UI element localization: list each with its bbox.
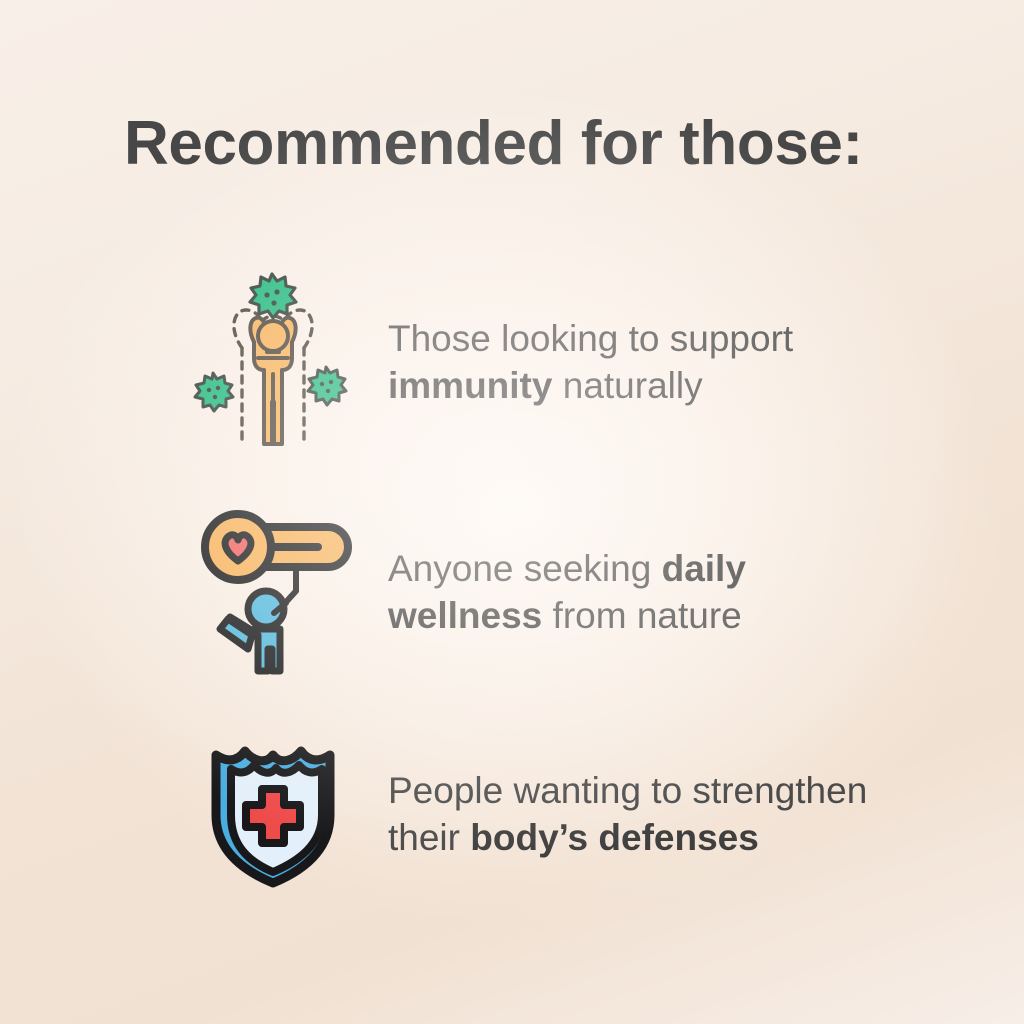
list-item-text: Anyone seeking daily wellness from natur…: [388, 545, 746, 640]
list-item-line-2: immunity naturally: [388, 362, 793, 409]
virus-top: [250, 274, 296, 318]
immunity-person-virus-icon: [175, 270, 370, 455]
list-item: People wanting to strengthen their body’…: [0, 714, 1024, 914]
bold-term: immunity: [388, 365, 552, 406]
line-2-suffix: naturally: [552, 365, 702, 406]
list-item: Those looking to support immunity natura…: [0, 262, 1024, 462]
bold-term: body’s defenses: [470, 817, 759, 858]
poster-canvas: Recommended for those:: [0, 0, 1024, 1024]
list-item-line-2: their body’s defenses: [388, 814, 867, 861]
list-item-text: People wanting to strengthen their body’…: [388, 767, 867, 862]
list-item-line-1: People wanting to strengthen: [388, 767, 867, 814]
virus-right: [308, 367, 346, 405]
list-item-line-1: Anyone seeking daily: [388, 545, 746, 592]
page-title: Recommended for those:: [124, 108, 863, 179]
heart-shape: [225, 534, 251, 560]
list-item-line-1: Those looking to support: [388, 315, 793, 362]
bold-term: daily: [662, 548, 746, 589]
bold-term: wellness: [388, 595, 542, 636]
list-item-text: Those looking to support immunity natura…: [388, 315, 793, 410]
list-item: Anyone seeking daily wellness from natur…: [0, 492, 1024, 692]
medical-shield-cross-icon: [175, 739, 370, 889]
line-2-suffix: from nature: [542, 595, 741, 636]
list-item-line-2: wellness from nature: [388, 592, 746, 639]
virus-left: [195, 373, 233, 411]
line-1-prefix: Anyone seeking: [388, 548, 662, 589]
benefit-list: Those looking to support immunity natura…: [0, 262, 1024, 914]
heart-key-balloon-person-icon: [175, 505, 370, 680]
line-2-prefix: their: [388, 817, 470, 858]
